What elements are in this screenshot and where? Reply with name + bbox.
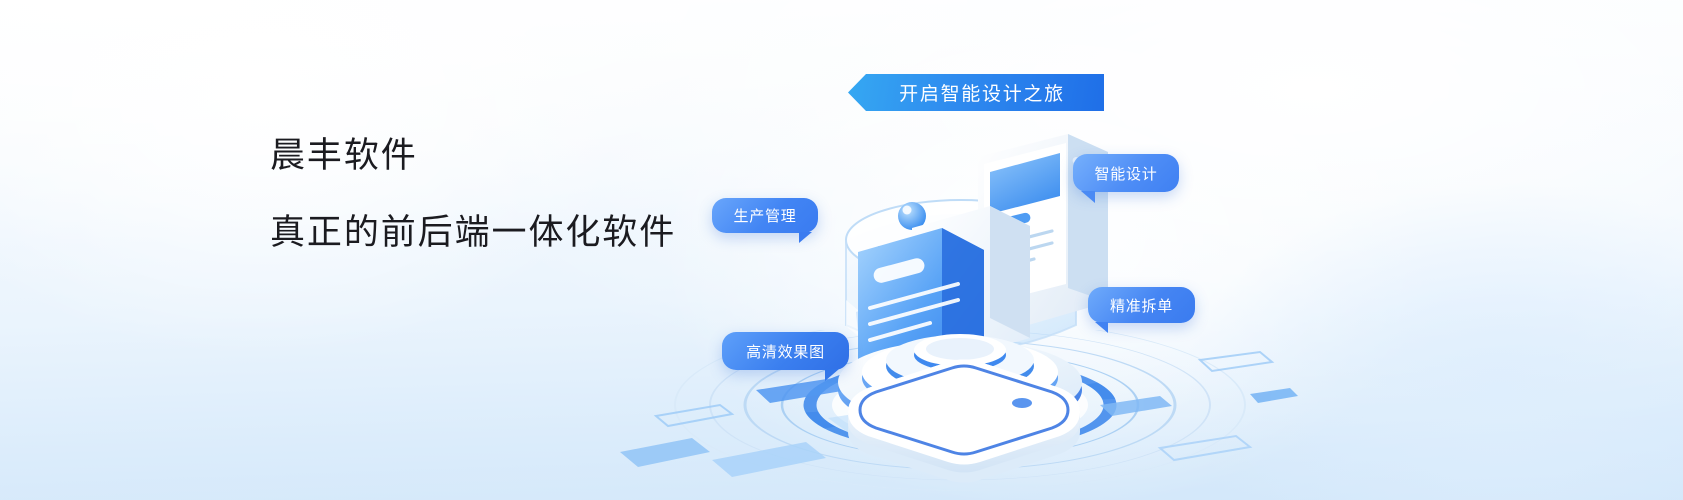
feature-pill-hd-render[interactable]: 高清效果图 xyxy=(722,332,849,370)
feature-pill-production-label: 生产管理 xyxy=(733,205,796,226)
feature-pill-production[interactable]: 生产管理 xyxy=(712,198,818,233)
cta-ribbon-label: 开启智能设计之旅 xyxy=(887,79,1065,106)
feature-pill-smart-design[interactable]: 智能设计 xyxy=(1073,154,1179,192)
feature-pill-hd-render-label: 高清效果图 xyxy=(746,341,825,362)
feature-pill-smart-design-label: 智能设计 xyxy=(1094,163,1157,184)
headline-line-2: 真正的前后端一体化软件 xyxy=(270,205,676,260)
cta-ribbon-banner[interactable]: 开启智能设计之旅 xyxy=(848,74,1104,111)
feature-pill-precise-split[interactable]: 精准拆单 xyxy=(1088,287,1195,323)
page-title: 晨丰软件 真正的前后端一体化软件 xyxy=(270,128,676,261)
feature-pill-precise-split-label: 精准拆单 xyxy=(1110,295,1173,316)
illustration-3d-scene xyxy=(560,60,1360,500)
headline-line-1: 晨丰软件 xyxy=(270,128,676,183)
hero-banner: 晨丰软件 真正的前后端一体化软件 开启智能设计之旅 生产管理 智能设计 精准拆单… xyxy=(0,0,1683,500)
